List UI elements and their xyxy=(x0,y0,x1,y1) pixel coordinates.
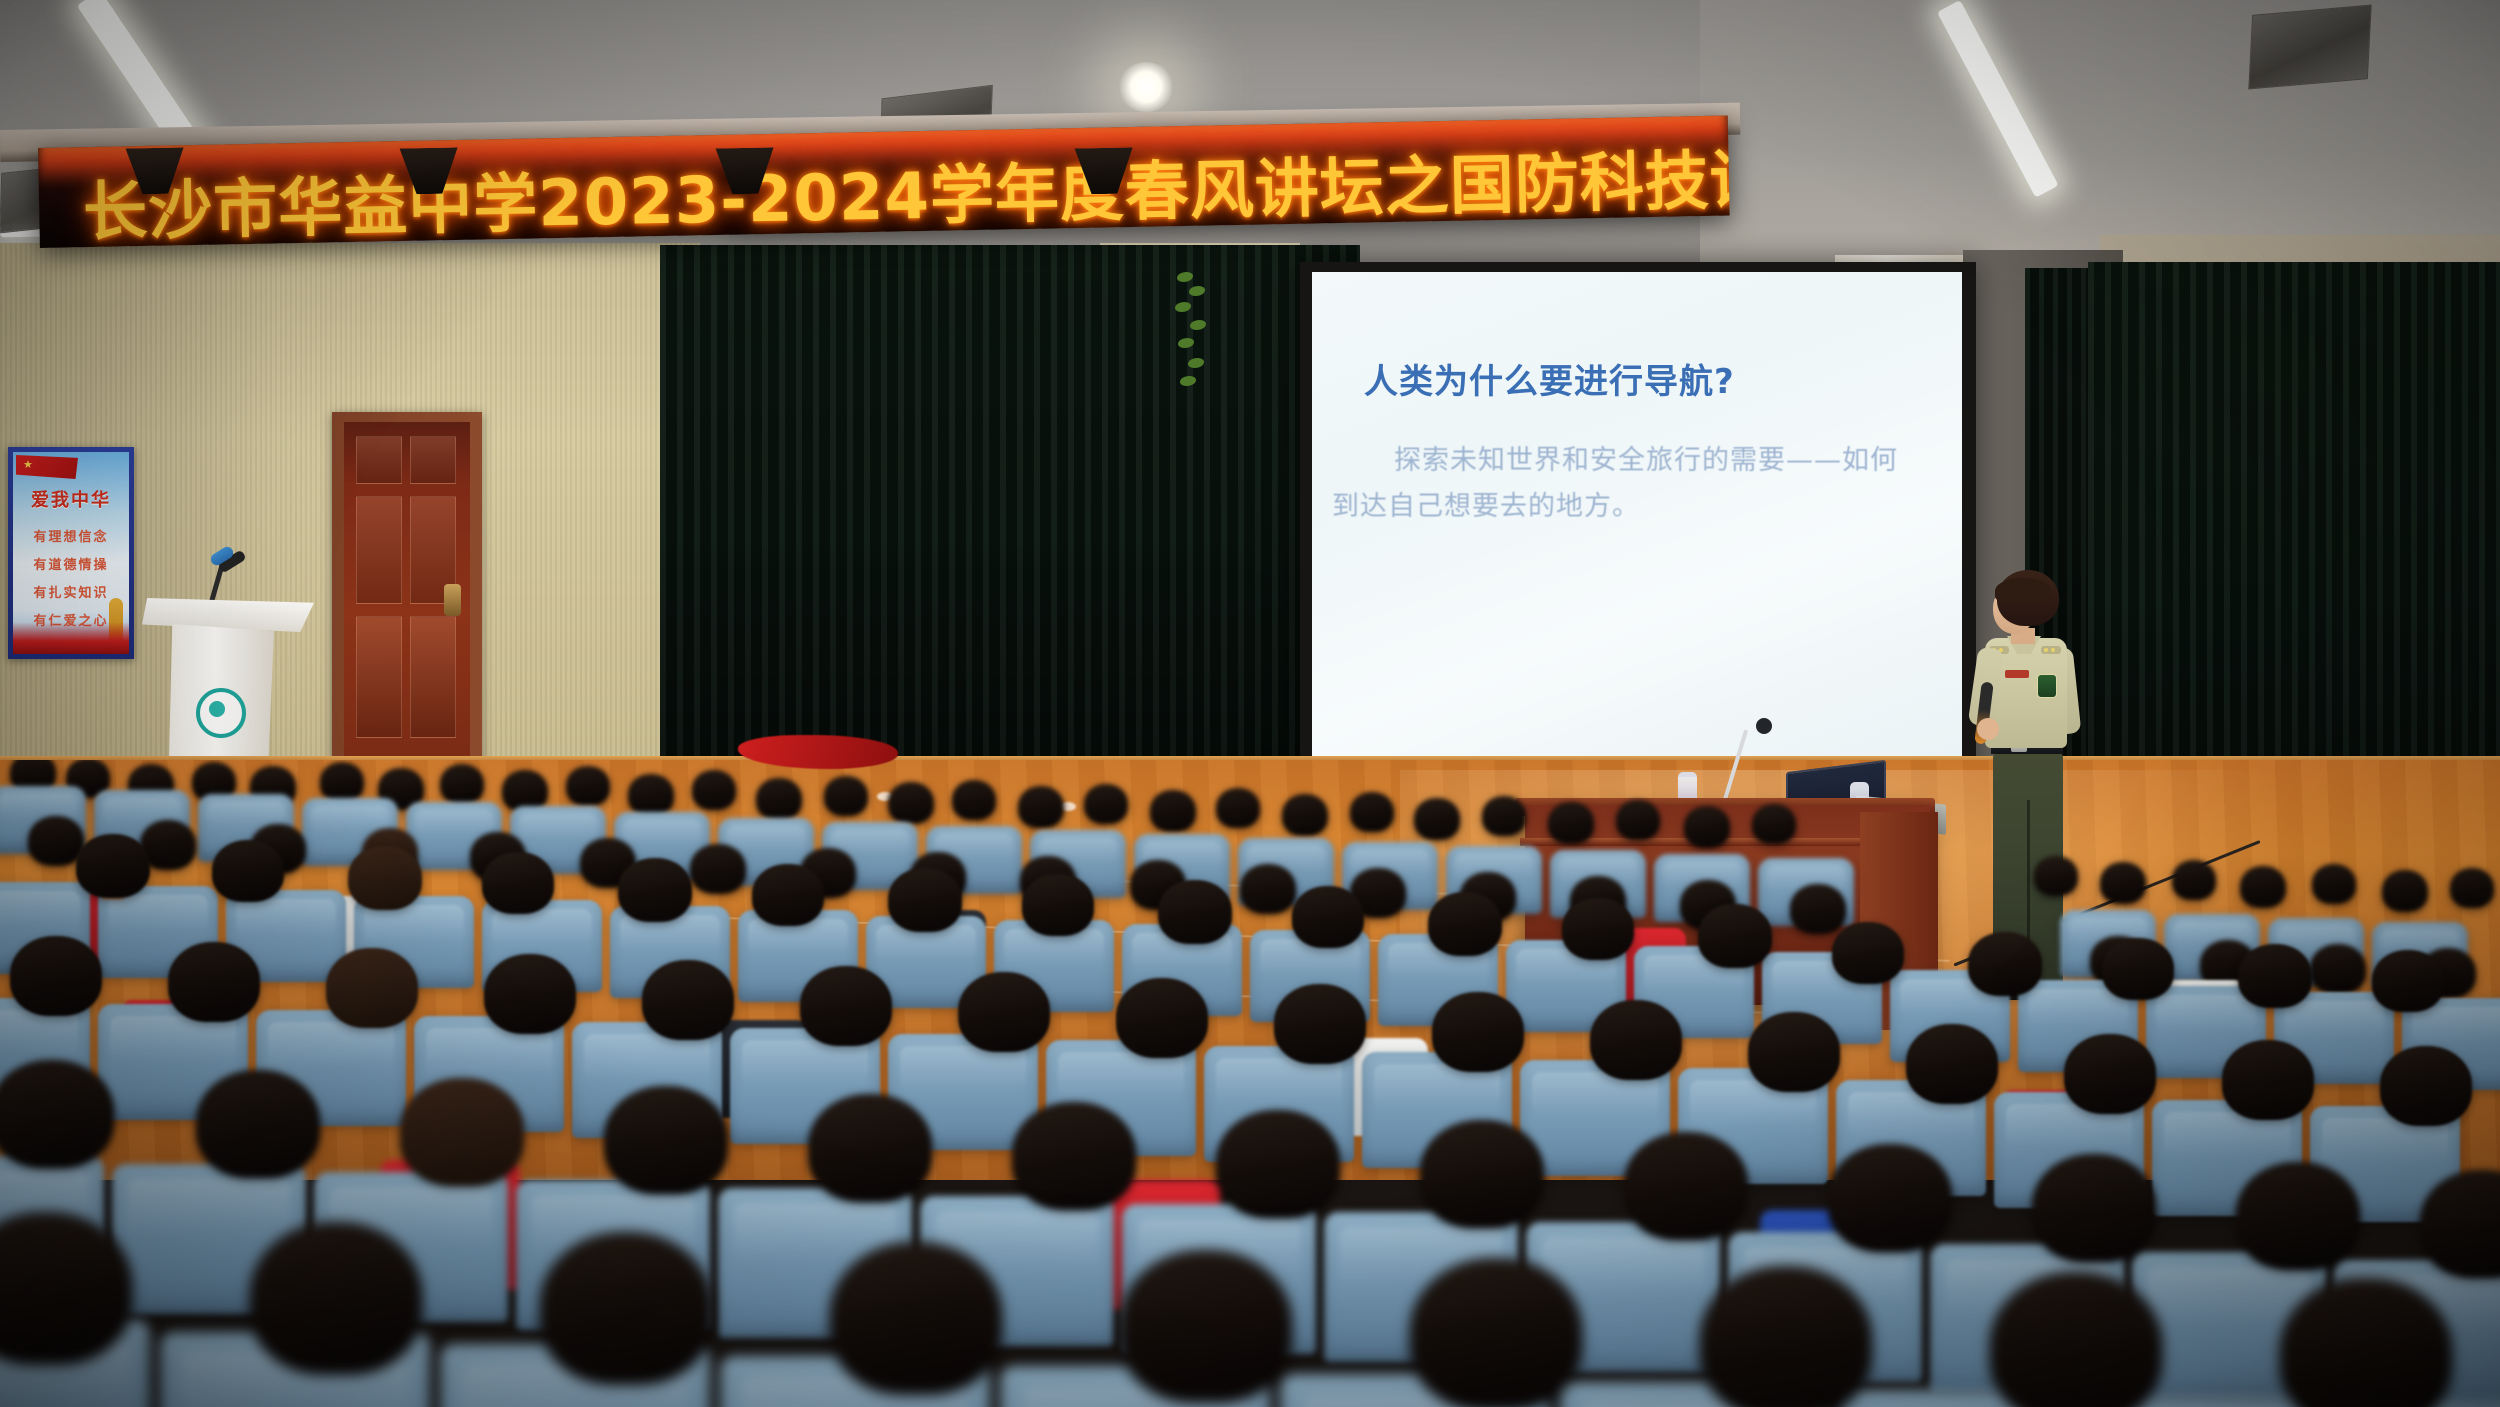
audience-area xyxy=(0,760,2500,1407)
epaulette-icon xyxy=(2041,646,2061,654)
spotlight-icon xyxy=(1118,62,1174,112)
hand xyxy=(1977,718,1999,740)
stage-curtain-left xyxy=(660,245,1360,765)
projection-screen: 人类为什么要进行导航? 探索未知世界和安全旅行的需要——如何到达自己想要去的地方… xyxy=(1312,272,1962,784)
hair-fringe xyxy=(1995,578,2051,604)
door-handle-icon[interactable] xyxy=(444,584,461,616)
star-icon: ★ xyxy=(23,460,33,471)
school-logo-icon xyxy=(196,688,246,738)
shoulder-patch-icon xyxy=(2037,674,2057,698)
vent-grille-icon xyxy=(2248,4,2371,89)
hanging-plant-icon xyxy=(1175,272,1209,402)
slide-title: 人类为什么要进行导航? xyxy=(1364,354,1735,403)
poster-line: 有理想信念 xyxy=(13,526,129,545)
name-tag-icon xyxy=(2005,670,2029,678)
auditorium-photo: 长沙市华益中学2023-2024学年度春风讲坛之国防科技讲座 ★ 爱我中华 有理… xyxy=(0,0,2500,1407)
gooseneck-microphone-icon xyxy=(1756,718,1772,734)
poster-heading: 爱我中华 xyxy=(13,486,129,512)
poster-footer-band xyxy=(13,622,129,654)
slide-body: 探索未知世界和安全旅行的需要——如何到达自己想要去的地方。 xyxy=(1332,438,1922,530)
poster-line: 有道德情操 xyxy=(13,554,129,573)
wall-poster: ★ 爱我中华 有理想信念 有道德情操 有扎实知识 有仁爱之心 xyxy=(8,447,134,659)
